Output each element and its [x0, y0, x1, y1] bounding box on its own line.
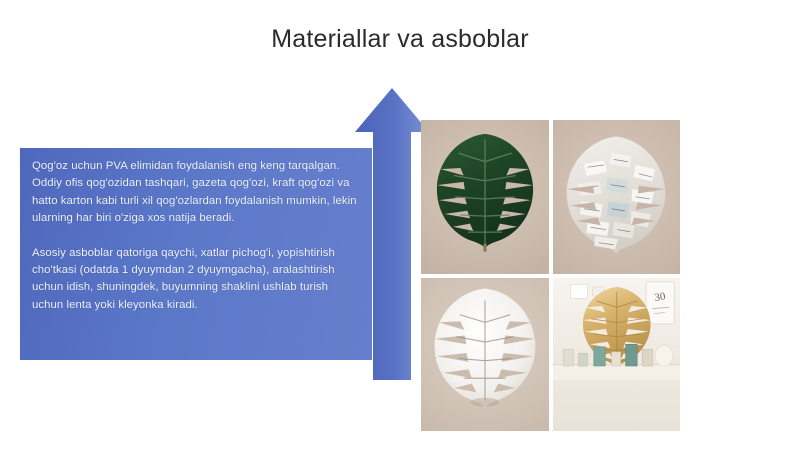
photo-leaf-gold: 30: [553, 278, 681, 432]
photo-grid: 30: [421, 120, 680, 431]
photo-leaf-green: [421, 120, 549, 274]
photo-leaf-paper: [553, 120, 681, 274]
white-papier-mache-leaf-icon: [427, 284, 542, 410]
monstera-leaf-icon: [430, 129, 540, 252]
svg-text:30: 30: [653, 290, 665, 303]
page-title: Materiallar va asboblar: [0, 24, 800, 55]
panel-paragraph-2: Asosiy asboblar qatoriga qaychi, xatlar …: [32, 245, 358, 315]
photo-leaf-white: [421, 278, 549, 432]
callout-text-panel: Qog'oz uchun PVA elimidan foydalanish en…: [20, 148, 372, 360]
gold-leaf-decor-scene-icon: 30: [553, 278, 681, 380]
paragraph-spacer: [32, 228, 358, 245]
panel-paragraph-1: Qog'oz uchun PVA elimidan foydalanish en…: [32, 158, 358, 228]
newspaper-covered-leaf-icon: [560, 131, 672, 257]
